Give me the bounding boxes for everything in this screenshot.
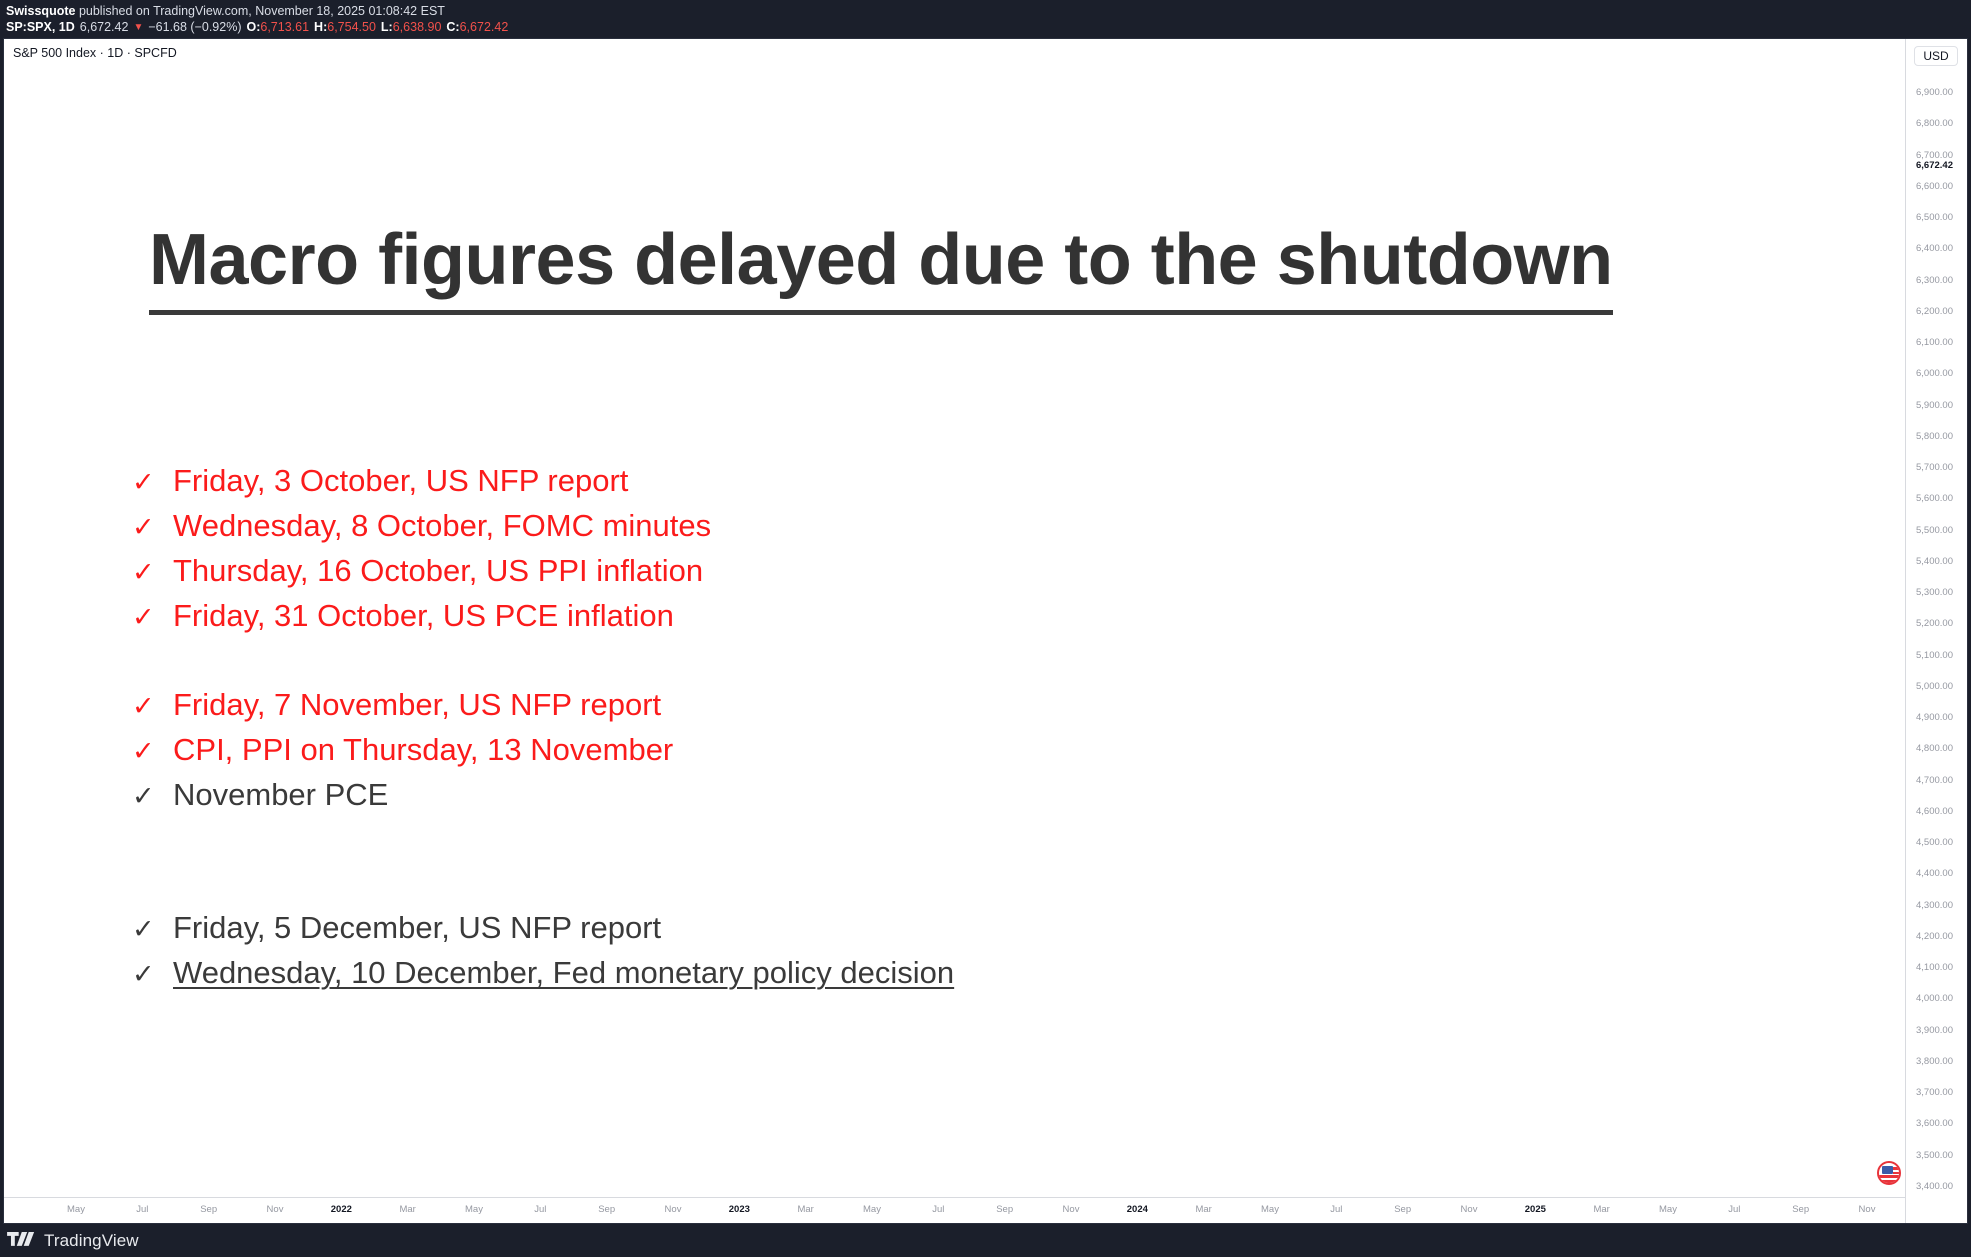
price-tick-label: 4,700.00 bbox=[1916, 775, 1953, 786]
check-icon: ✓ bbox=[132, 952, 173, 996]
bullet-group: ✓Friday, 5 December, US NFP report✓Wedne… bbox=[132, 906, 1632, 996]
price-tick-label: 5,600.00 bbox=[1916, 493, 1953, 504]
time-tick-label: Sep bbox=[200, 1204, 217, 1215]
price-tick-label: 4,500.00 bbox=[1916, 837, 1953, 848]
page-title: Macro figures delayed due to the shutdow… bbox=[149, 224, 1613, 315]
price-tick-label: 6,500.00 bbox=[1916, 212, 1953, 223]
list-item-label: Friday, 7 November, US NFP report bbox=[173, 683, 661, 727]
list-item-label: November PCE bbox=[173, 773, 388, 817]
check-icon: ✓ bbox=[132, 774, 173, 818]
tradingview-chart-window: Swissquote published on TradingView.com,… bbox=[0, 0, 1971, 1257]
list-item-label: Friday, 3 October, US NFP report bbox=[173, 459, 628, 503]
price-tick-label: 4,000.00 bbox=[1916, 993, 1953, 1004]
price-tick-label: 4,600.00 bbox=[1916, 806, 1953, 817]
price-tick-label: 6,600.00 bbox=[1916, 181, 1953, 192]
list-item: ✓Thursday, 16 October, US PPI inflation bbox=[132, 549, 1632, 594]
time-tick-label: Jul bbox=[1728, 1204, 1740, 1215]
price-tick-label: 3,800.00 bbox=[1916, 1056, 1953, 1067]
price-tick-label: 5,100.00 bbox=[1916, 650, 1953, 661]
time-tick-label: Mar bbox=[399, 1204, 415, 1215]
chart-pane[interactable]: S&P 500 Index · 1D · SPCFD Macro figures… bbox=[3, 38, 1968, 1224]
price-tick-label: 6,100.00 bbox=[1916, 337, 1953, 348]
last-price: 6,672.42 bbox=[80, 20, 129, 34]
list-item-label: Wednesday, 8 October, FOMC minutes bbox=[173, 504, 711, 548]
quote-line: SP:SPX, 1D6,672.42▼−61.68 (−0.92%)O:6,71… bbox=[6, 19, 1971, 36]
check-icon: ✓ bbox=[132, 907, 173, 951]
time-tick-label: Nov bbox=[1063, 1204, 1080, 1215]
time-tick-label: May bbox=[67, 1204, 85, 1215]
price-tick-label: 4,200.00 bbox=[1916, 931, 1953, 942]
brand-name: TradingView bbox=[44, 1231, 139, 1251]
price-change: −61.68 (−0.92%) bbox=[148, 20, 241, 34]
price-scale[interactable]: USD 6,900.006,800.006,700.006,672.426,60… bbox=[1905, 39, 1967, 1223]
time-tick-label: May bbox=[1261, 1204, 1279, 1215]
check-icon: ✓ bbox=[132, 460, 173, 504]
price-tick-label: 3,600.00 bbox=[1916, 1118, 1953, 1129]
tradingview-logo-icon bbox=[7, 1232, 35, 1249]
price-tick-label: 5,900.00 bbox=[1916, 400, 1953, 411]
time-tick-label: May bbox=[465, 1204, 483, 1215]
list-item-label: CPI, PPI on Thursday, 13 November bbox=[173, 728, 673, 772]
price-tick-label: 5,200.00 bbox=[1916, 618, 1953, 629]
time-tick-label: May bbox=[1659, 1204, 1677, 1215]
bullet-list: ✓Friday, 3 October, US NFP report✓Wednes… bbox=[132, 459, 1632, 996]
chart-header: Swissquote published on TradingView.com,… bbox=[0, 0, 1971, 38]
time-tick-label: Nov bbox=[1461, 1204, 1478, 1215]
price-tick-label: 5,000.00 bbox=[1916, 681, 1953, 692]
time-tick-label: Sep bbox=[598, 1204, 615, 1215]
price-tick-label: 4,400.00 bbox=[1916, 868, 1953, 879]
price-tick-label: 6,400.00 bbox=[1916, 243, 1953, 254]
time-tick-label: 2022 bbox=[331, 1204, 352, 1215]
high-value: 6,754.50 bbox=[327, 20, 376, 34]
time-tick-label: Sep bbox=[1792, 1204, 1809, 1215]
list-item: ✓Friday, 5 December, US NFP report bbox=[132, 906, 1632, 951]
open-value: 6,713.61 bbox=[260, 20, 309, 34]
price-tick-label: 3,500.00 bbox=[1916, 1150, 1953, 1161]
time-tick-label: Jul bbox=[1330, 1204, 1342, 1215]
open-label: O: bbox=[246, 20, 260, 34]
low-value: 6,638.90 bbox=[393, 20, 442, 34]
price-tick-label: 3,400.00 bbox=[1916, 1181, 1953, 1192]
list-item: ✓CPI, PPI on Thursday, 13 November bbox=[132, 728, 1632, 773]
price-tick-label: 4,900.00 bbox=[1916, 712, 1953, 723]
publisher-line: Swissquote published on TradingView.com,… bbox=[6, 3, 1971, 19]
price-tick-label: 6,300.00 bbox=[1916, 275, 1953, 286]
time-tick-label: 2023 bbox=[729, 1204, 750, 1215]
time-tick-label: 2024 bbox=[1127, 1204, 1148, 1215]
price-tick-label: 4,300.00 bbox=[1916, 900, 1953, 911]
price-tick-label: 4,800.00 bbox=[1916, 743, 1953, 754]
time-tick-label: Jul bbox=[932, 1204, 944, 1215]
list-item: ✓Friday, 31 October, US PCE inflation bbox=[132, 594, 1632, 639]
published-text: published on TradingView.com, November 1… bbox=[75, 4, 444, 18]
list-item-label: Thursday, 16 October, US PPI inflation bbox=[173, 549, 703, 593]
symbol-label[interactable]: SP:SPX, 1D bbox=[6, 20, 75, 34]
list-item-label: Friday, 31 October, US PCE inflation bbox=[173, 594, 674, 638]
close-label: C: bbox=[446, 20, 459, 34]
price-tick-label: 5,300.00 bbox=[1916, 587, 1953, 598]
time-tick-label: Sep bbox=[1394, 1204, 1411, 1215]
group-spacer bbox=[132, 639, 1632, 683]
list-item-label: Wednesday, 10 December, Fed monetary pol… bbox=[173, 951, 954, 995]
check-icon: ✓ bbox=[132, 505, 173, 549]
list-item-label: Friday, 5 December, US NFP report bbox=[173, 906, 661, 950]
group-spacer bbox=[132, 818, 1632, 906]
triangle-down-icon: ▼ bbox=[133, 22, 143, 33]
time-scale[interactable]: MayJulSepNov2022MarMayJulSepNov2023MarMa… bbox=[4, 1197, 1905, 1223]
price-tick-label: 5,500.00 bbox=[1916, 525, 1953, 536]
list-item: ✓November PCE bbox=[132, 773, 1632, 818]
high-label: H: bbox=[314, 20, 327, 34]
tradingview-logo[interactable]: TradingView bbox=[7, 1231, 139, 1251]
time-tick-label: Mar bbox=[1195, 1204, 1211, 1215]
time-tick-label: Nov bbox=[1859, 1204, 1876, 1215]
price-tick-label: 5,800.00 bbox=[1916, 431, 1953, 442]
time-tick-label: 2025 bbox=[1525, 1204, 1546, 1215]
time-tick-label: Sep bbox=[996, 1204, 1013, 1215]
price-tick-label: 6,900.00 bbox=[1916, 87, 1953, 98]
check-icon: ✓ bbox=[132, 729, 173, 773]
check-icon: ✓ bbox=[132, 550, 173, 594]
price-tick-label: 3,900.00 bbox=[1916, 1025, 1953, 1036]
slide-overlay: Macro figures delayed due to the shutdow… bbox=[4, 39, 1905, 1197]
bullet-group: ✓Friday, 7 November, US NFP report✓CPI, … bbox=[132, 683, 1632, 818]
time-tick-label: Mar bbox=[797, 1204, 813, 1215]
current-price-label: 6,672.42 bbox=[1916, 160, 1953, 171]
close-value: 6,672.42 bbox=[460, 20, 509, 34]
check-icon: ✓ bbox=[132, 684, 173, 728]
footer-bar: TradingView bbox=[0, 1224, 1971, 1257]
price-tick-label: 4,100.00 bbox=[1916, 962, 1953, 973]
list-item: ✓Friday, 7 November, US NFP report bbox=[132, 683, 1632, 728]
time-tick-label: May bbox=[863, 1204, 881, 1215]
time-tick-label: Nov bbox=[267, 1204, 284, 1215]
time-tick-label: Jul bbox=[534, 1204, 546, 1215]
time-tick-label: Nov bbox=[665, 1204, 682, 1215]
low-label: L: bbox=[381, 20, 393, 34]
price-tick-label: 6,800.00 bbox=[1916, 118, 1953, 129]
time-tick-label: Jul bbox=[136, 1204, 148, 1215]
price-tick-label: 5,400.00 bbox=[1916, 556, 1953, 567]
bullet-group: ✓Friday, 3 October, US NFP report✓Wednes… bbox=[132, 459, 1632, 639]
check-icon: ✓ bbox=[132, 595, 173, 639]
currency-badge[interactable]: USD bbox=[1914, 46, 1958, 66]
list-item: ✓Friday, 3 October, US NFP report bbox=[132, 459, 1632, 504]
price-tick-label: 5,700.00 bbox=[1916, 462, 1953, 473]
time-tick-label: Mar bbox=[1593, 1204, 1609, 1215]
us-flag-icon bbox=[1877, 1161, 1901, 1185]
publisher-name: Swissquote bbox=[6, 4, 75, 18]
price-tick-label: 6,200.00 bbox=[1916, 306, 1953, 317]
list-item: ✓Wednesday, 10 December, Fed monetary po… bbox=[132, 951, 1632, 996]
price-tick-label: 3,700.00 bbox=[1916, 1087, 1953, 1098]
list-item: ✓Wednesday, 8 October, FOMC minutes bbox=[132, 504, 1632, 549]
price-tick-label: 6,000.00 bbox=[1916, 368, 1953, 379]
